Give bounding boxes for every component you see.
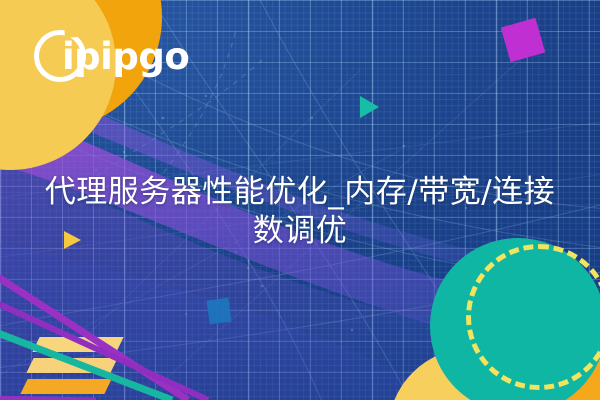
- stacked-bars-graphic: [24, 337, 120, 400]
- brand-name: ipipgo: [62, 38, 189, 75]
- triangle-teal-center: [360, 96, 379, 118]
- brand-logo[interactable]: ipipgo: [34, 28, 189, 84]
- stacked-bar-2: [26, 358, 117, 373]
- stacked-bar-1: [32, 337, 123, 352]
- dashed-circle-outline: [466, 244, 600, 390]
- stacked-bar-3: [20, 379, 111, 394]
- banner-canvas: ipipgo 代理服务器性能优化_内存/带宽/连接数调优: [0, 0, 600, 400]
- page-title: 代理服务器性能优化_内存/带宽/连接数调优: [40, 173, 560, 252]
- square-steel-center: [206, 298, 231, 325]
